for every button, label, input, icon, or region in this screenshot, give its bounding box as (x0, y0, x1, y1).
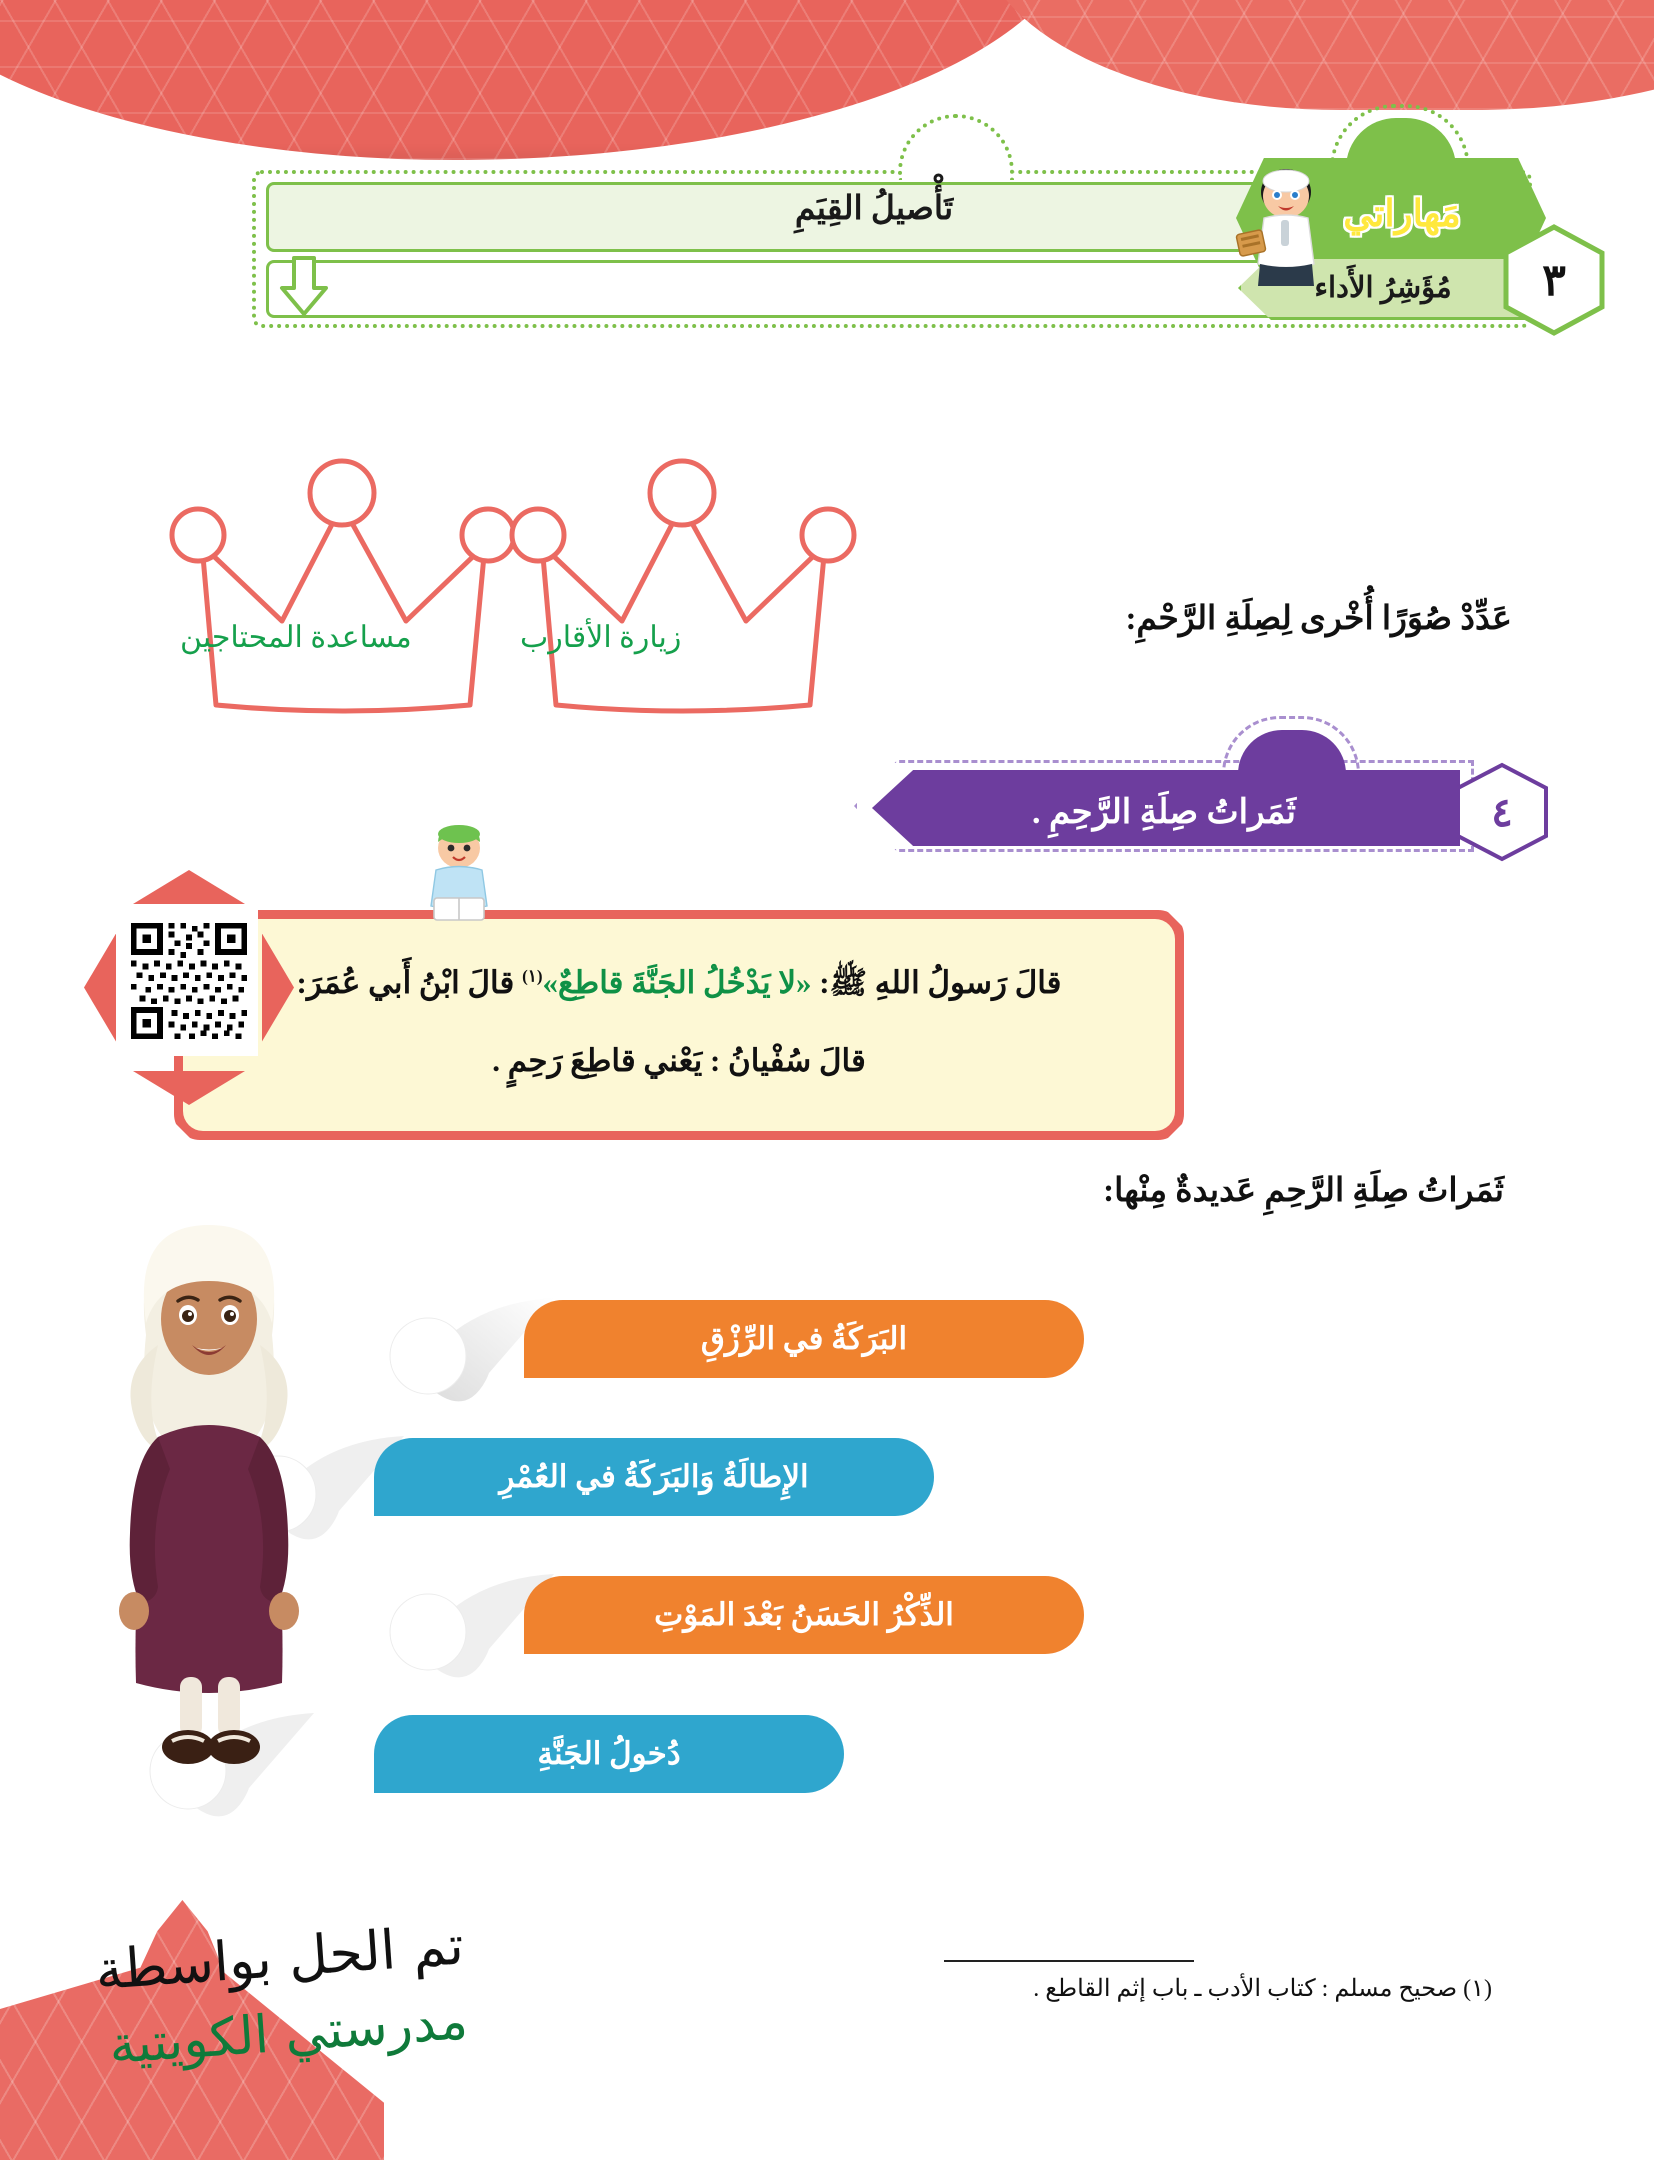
fruit-item-4-label: دُخولُ الجَنَّةِ (537, 1736, 680, 1772)
fruit-item-2: الإِطالَةُ وَالبَرَكَةُ في العُمْرِ (374, 1438, 934, 1516)
watermark: تم الحل بواسطة مدرستي الكويتية (24, 1840, 544, 2120)
qr-code-block[interactable] (84, 870, 294, 1105)
hadith-line-1: قالَ رَسولُ اللهِ ﷺ: «لا يَدْخُلُ الجَنَ… (218, 960, 1140, 1007)
section-number-badge-4: ٤ (1454, 762, 1550, 862)
footnote-text: (١) صحيح مسلم : كتاب الأدب ـ باب إثم الق… (874, 1974, 1494, 2003)
fruit-item-3-label: الذِّكْرُ الحَسَنُ بَعْدَ المَوْتِ (654, 1597, 954, 1633)
fruit-item-3: الذِّكْرُ الحَسَنُ بَعْدَ المَوْتِ (524, 1576, 1084, 1654)
boy-with-book-icon (1234, 166, 1338, 286)
hadith-box: قالَ رَسولُ اللهِ ﷺ: «لا يَدْخُلُ الجَنَ… (174, 910, 1184, 1140)
boy-reading-quran-icon (414, 820, 504, 930)
girl-student-icon (84, 1215, 334, 1775)
skill-section: تَأْصيلُ القِيَمِ مُؤَشِرُ الأَداء مَهار… (174, 152, 1574, 332)
qr-code-icon[interactable] (120, 906, 258, 1056)
hadith-narration-opening: قالَ رَسولُ اللهِ (875, 965, 1062, 1000)
crown-answer-2: زيارة الأقارب (520, 620, 681, 655)
down-arrow-icon (278, 256, 330, 318)
fruits-intro-text: ثَمَراتُ صِلَةِ الرَّحِمِ عَديدةٌ مِنْها… (1103, 1170, 1504, 1210)
section-number-4: ٤ (1454, 762, 1550, 862)
fruit-item-2-label: الإِطالَةُ وَالبَرَكَةُ في العُمْرِ (499, 1459, 808, 1495)
section-number-badge-3: ٣ (1502, 224, 1606, 336)
footnote: (١) صحيح مسلم : كتاب الأدب ـ باب إثم الق… (874, 1960, 1494, 2003)
crowns-answer-area[interactable]: مساعدة المحتاجين زيارة الأقارب (150, 455, 1030, 725)
crowns-question: عَدِّدْ صُوَرًا أُخْرى لِصِلَةِ الرَّحْم… (1125, 598, 1512, 638)
section-number-3: ٣ (1502, 224, 1606, 336)
fruit-item-4: دُخولُ الجَنَّةِ (374, 1715, 844, 1793)
fruit-item-1: البَرَكَةُ في الرِّزْقِ (524, 1300, 1084, 1378)
hadith-quote: «لا يَدْخُلُ الجَنَّةَ قاطِعٌ» (543, 965, 812, 1000)
fruits-section-header: ثَمَراتُ صِلَةِ الرَّحِمِ . ٤ (854, 760, 1474, 852)
hadith-narrator: قالَ ابْنُ أَبي عُمَرَ: (297, 965, 515, 1000)
hadith-inner-panel (183, 919, 1175, 1131)
hadith-footnote-ref: (١) (522, 967, 542, 986)
hadith-line-2: قالَ سُفْيانُ : يَعْني قاطِعَ رَحِمٍ . (218, 1038, 1140, 1085)
footnote-divider (944, 1960, 1194, 1962)
qr-decor-left (84, 934, 116, 1042)
qr-decor-bottom (133, 1071, 245, 1105)
hadith-colon: : (819, 965, 829, 1000)
fruits-section-title: ثَمَراتُ صِلَةِ الرَّحِمِ . (894, 792, 1434, 832)
decorative-band-right (980, 0, 1654, 110)
watermark-line-1: تم الحل بواسطة (42, 1913, 465, 2005)
qr-decor-right (262, 934, 294, 1042)
fruit-item-1-label: البَرَكَةُ في الرِّزْقِ (701, 1321, 907, 1357)
pbuh-symbol-icon: ﷺ (830, 965, 867, 1000)
qr-decor-top (133, 870, 245, 904)
crown-answer-1: مساعدة المحتاجين (180, 620, 412, 655)
